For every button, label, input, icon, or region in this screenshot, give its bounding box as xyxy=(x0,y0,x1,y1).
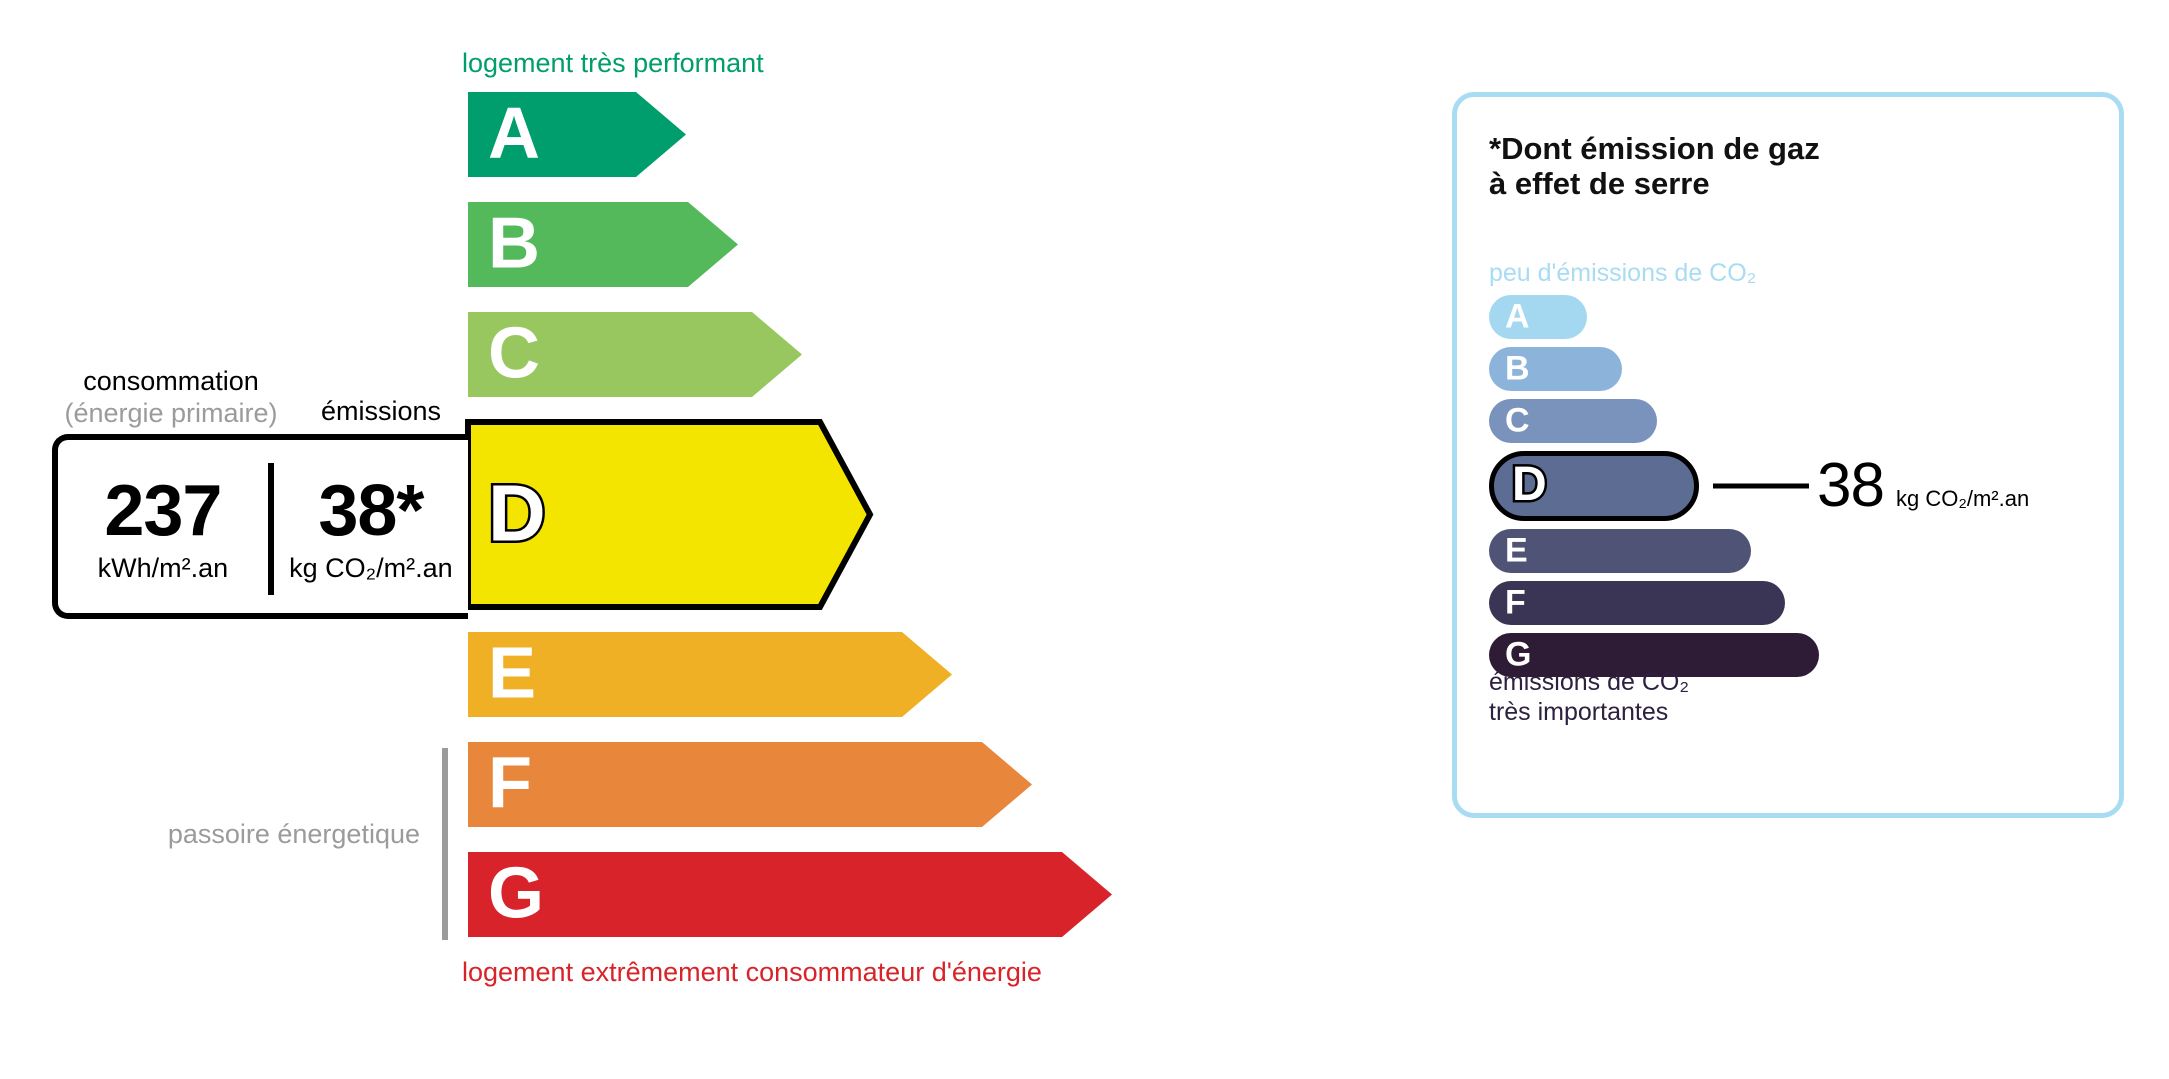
energy-band-letter-c: C xyxy=(488,317,540,389)
co2-bar-row-e: E xyxy=(1489,529,1819,573)
co2-bar-letter-a: A xyxy=(1505,299,1530,333)
co2-bar-letter-d: D xyxy=(1512,461,1547,509)
co2-bottom-caption: émissions de CO₂ très importantes xyxy=(1489,667,1689,727)
energy-band-c: C xyxy=(462,306,1118,403)
energy-band-letter-g: G xyxy=(488,857,544,929)
energy-band-list: ABCDEFG xyxy=(462,86,1118,956)
co2-bar-letter-f: F xyxy=(1505,585,1526,619)
co2-value: 38 xyxy=(1817,455,1884,517)
co2-panel: *Dont émission de gaz à effet de serre p… xyxy=(1452,92,2124,818)
emissions-label: émissions xyxy=(296,396,466,428)
co2-panel-title: *Dont émission de gaz à effet de serre xyxy=(1489,131,1820,202)
co2-bar-f: F xyxy=(1489,581,1785,625)
energy-band-a: A xyxy=(462,86,1118,183)
co2-bar-e: E xyxy=(1489,529,1751,573)
co2-leader-line xyxy=(1713,484,1809,489)
co2-bar-c: C xyxy=(1489,399,1657,443)
consumption-label-sub: (énergie primaire) xyxy=(52,398,290,430)
energy-band-shape-g xyxy=(462,846,1118,943)
co2-bar-row-c: C xyxy=(1489,399,1819,443)
emissions-value: 38* xyxy=(274,477,468,545)
energy-band-d: D xyxy=(462,416,1118,613)
co2-top-caption: peu d'émissions de CO₂ xyxy=(1489,259,1756,288)
co2-bar-row-d: D38kg CO₂/m².an xyxy=(1489,451,1819,521)
passoire-label: passoire énergetique xyxy=(140,818,420,850)
energy-band-letter-d: D xyxy=(488,473,546,553)
co2-bar-letter-c: C xyxy=(1505,403,1530,437)
co2-bar-d: D xyxy=(1489,451,1699,521)
consumption-label-main: consommation xyxy=(83,366,259,396)
energy-band-shape-f xyxy=(462,736,1038,833)
co2-bar-letter-e: E xyxy=(1505,533,1528,567)
emissions-unit: kg CO₂/m².an xyxy=(274,555,468,582)
consumption-value: 237 xyxy=(58,477,268,545)
co2-bar-row-a: A xyxy=(1489,295,1819,339)
co2-bar-a: A xyxy=(1489,295,1587,339)
co2-bar-row-b: B xyxy=(1489,347,1819,391)
energy-band-shape-e xyxy=(462,626,958,723)
dpe-diagram: logement très performant ABCDEFG consomm… xyxy=(0,0,2169,1079)
co2-bar-list: ABCD38kg CO₂/m².anEFG xyxy=(1489,295,1819,685)
emissions-value-cell: 38* kg CO₂/m².an xyxy=(274,471,468,581)
energy-band-letter-f: F xyxy=(488,747,532,819)
scale-bottom-caption: logement extrêmement consommateur d'éner… xyxy=(462,957,1042,988)
co2-value-unit: kg CO₂/m².an xyxy=(1896,486,2029,512)
energy-band-letter-b: B xyxy=(488,207,540,279)
consumption-value-cell: 237 kWh/m².an xyxy=(58,471,268,581)
energy-band-b: B xyxy=(462,196,1118,293)
consumption-label: consommation (énergie primaire) xyxy=(52,366,290,430)
passoire-indicator-bar xyxy=(442,748,448,940)
energy-band-letter-a: A xyxy=(488,97,540,169)
value-box: 237 kWh/m².an 38* kg CO₂/m².an xyxy=(52,434,468,619)
energy-band-f: F xyxy=(462,736,1118,833)
energy-band-g: G xyxy=(462,846,1118,943)
co2-bar-b: B xyxy=(1489,347,1622,391)
co2-value-group: 38kg CO₂/m².an xyxy=(1817,455,2029,517)
co2-bar-row-f: F xyxy=(1489,581,1819,625)
energy-band-letter-e: E xyxy=(488,637,536,709)
co2-bar-letter-b: B xyxy=(1505,351,1530,385)
energy-band-e: E xyxy=(462,626,1118,723)
consumption-unit: kWh/m².an xyxy=(58,555,268,582)
scale-top-caption: logement très performant xyxy=(462,48,764,79)
